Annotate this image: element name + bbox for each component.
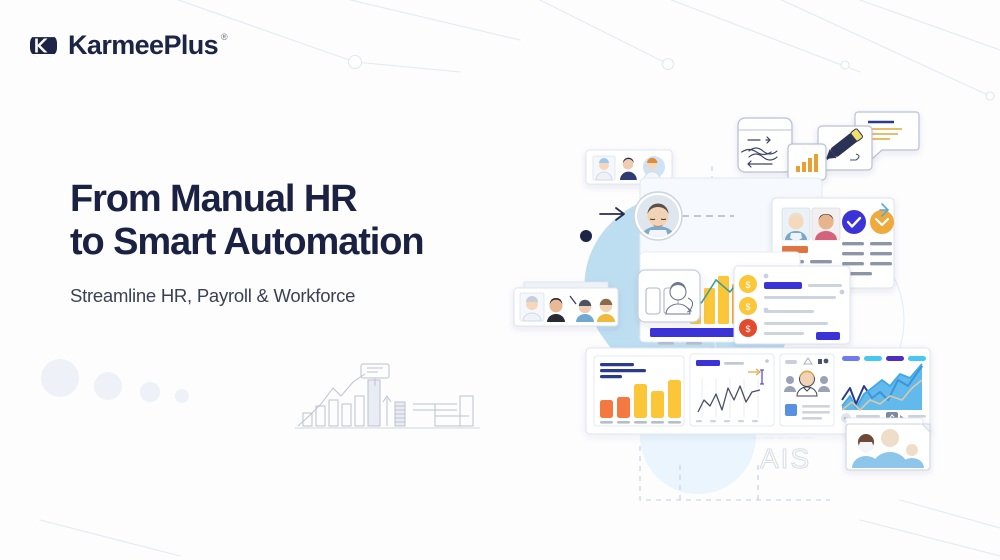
svg-text:$: $ [745, 280, 750, 290]
headline-line-2: to Smart Automation [70, 221, 510, 264]
clock-circle-icon [870, 210, 894, 234]
hero-slide: KarmeePlus® From Manual HR to Smart Auto… [0, 0, 1000, 560]
employee-badge-card[interactable] [638, 270, 700, 322]
page-title: From Manual HR to Smart Automation [70, 178, 510, 263]
team-photo-card[interactable] [846, 418, 930, 470]
ais-watermark: AIS [752, 438, 812, 474]
coin-icon: $ $ $ [739, 275, 757, 337]
svg-text:$: $ [745, 302, 750, 312]
navy-dot-icon [580, 230, 592, 242]
subheadline: Streamline HR, Payroll & Workforce [70, 285, 510, 307]
trend-chart-card[interactable] [838, 350, 926, 428]
payroll-list-card[interactable]: $ $ $ [734, 266, 850, 344]
hr-automation-dashboard-illustration: $ $ $ [490, 70, 990, 540]
team-avatars-card-left[interactable] [514, 282, 618, 326]
registered-mark: ® [221, 32, 227, 42]
headline-line-1: From Manual HR [70, 178, 357, 220]
analytics-bar-card[interactable] [594, 356, 684, 426]
hero-copy: From Manual HR to Smart Automation Strea… [70, 178, 510, 307]
check-circle-icon [842, 210, 866, 234]
workflow-window-card[interactable] [738, 118, 792, 172]
svg-text:$: $ [745, 324, 750, 334]
people-profile-card[interactable] [780, 354, 834, 426]
brand-name-text: KarmeePlus [68, 30, 218, 60]
bar-chart-mini-card[interactable] [788, 144, 826, 180]
analytics-line-card[interactable] [690, 354, 774, 426]
karmee-k-logo-icon [28, 30, 59, 61]
brand-name: KarmeePlus® [68, 30, 218, 61]
ghost-lineart-chart [295, 358, 480, 433]
brand-logo[interactable]: KarmeePlus® [28, 30, 218, 61]
svg-text:AIS: AIS [760, 443, 811, 474]
